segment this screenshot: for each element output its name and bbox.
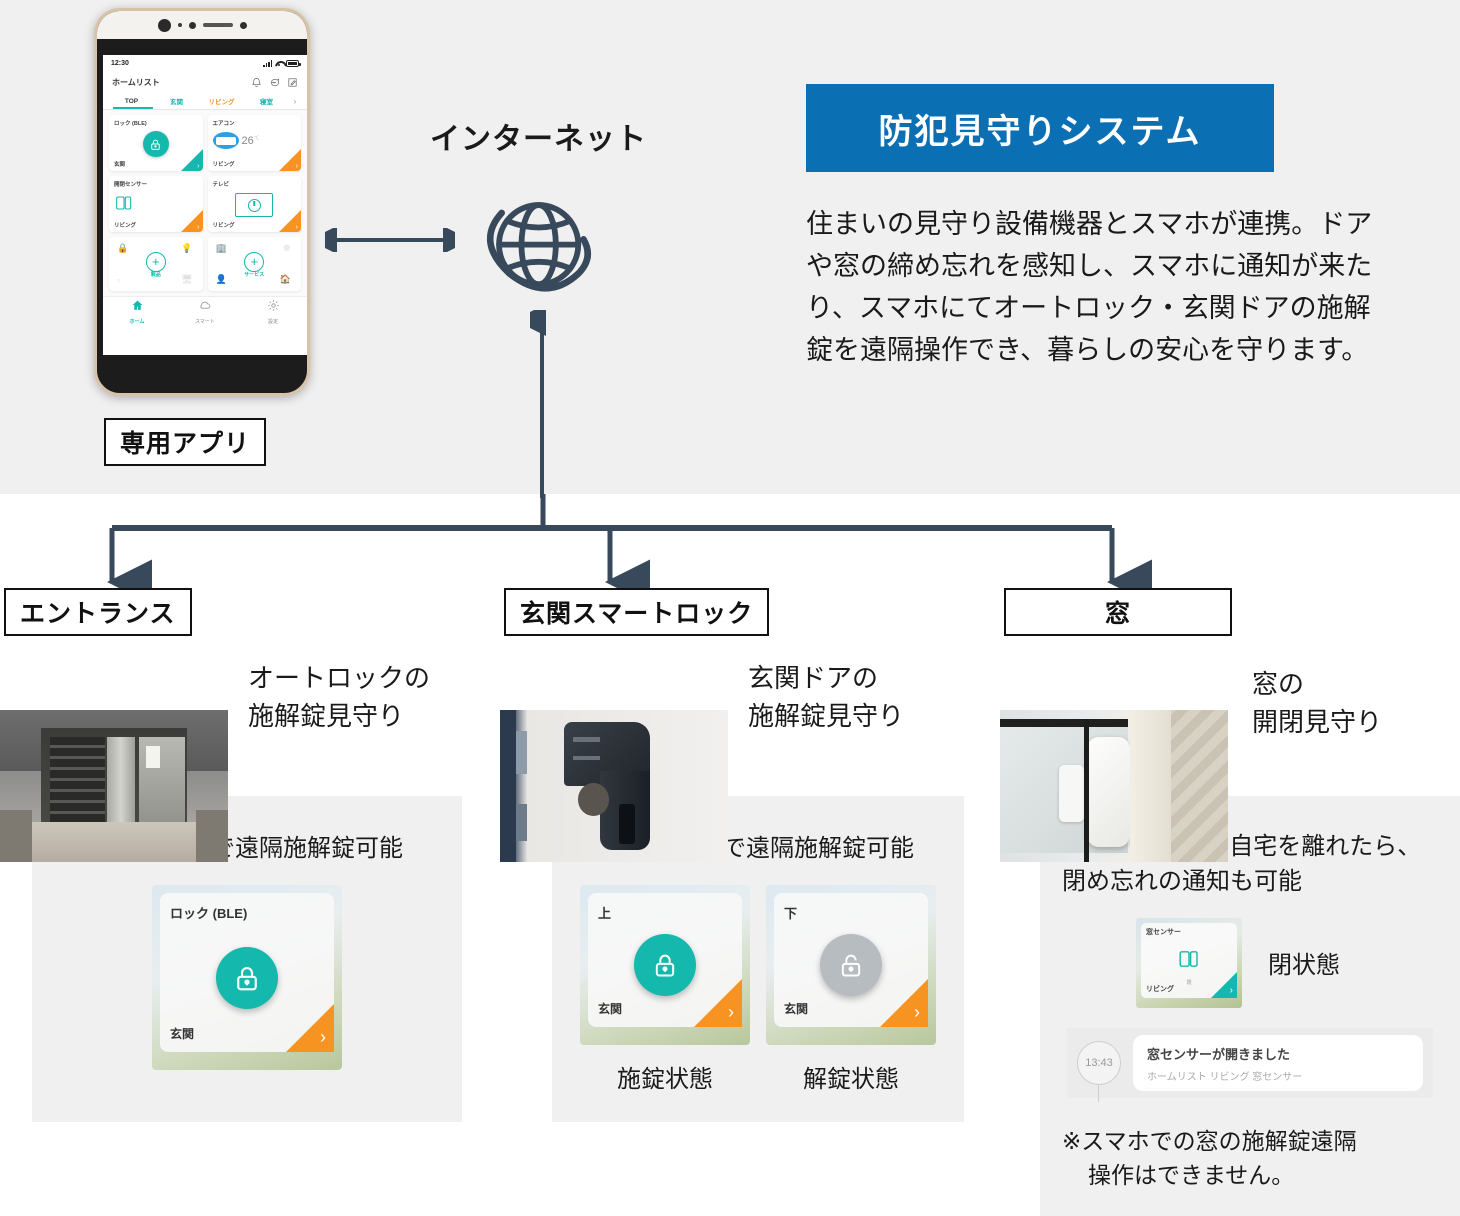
internet-label: インターネット	[430, 114, 647, 158]
signal-icon	[263, 60, 272, 67]
window-panel-title-line2: 閉め忘れの通知も可能	[1062, 865, 1460, 900]
tab-living[interactable]: リビング	[199, 96, 244, 106]
lock-card-locked[interactable]: 上 玄関 ›	[580, 885, 750, 1045]
unlocked-state-caption: 解錠状態	[766, 1059, 936, 1094]
tab-active-underline	[113, 107, 153, 109]
entrance-photo	[0, 710, 228, 862]
sensor-dot-icon	[178, 23, 182, 27]
window-closed-state-label: 閉状態	[1268, 945, 1340, 980]
mock-card-room: 玄関	[784, 1000, 808, 1017]
card-room: リビング	[114, 221, 136, 229]
smart-lock-caption-line1: 玄関ドアの	[748, 660, 904, 698]
entrance-badge: エントランス	[4, 588, 192, 636]
tab-more-chevron-icon[interactable]: ›	[289, 97, 301, 106]
add-service-label: サービス	[244, 271, 264, 278]
nav-home[interactable]: ホーム	[103, 299, 171, 325]
aircon-temp: 26	[242, 135, 254, 147]
window-footnote-line1: ※スマホでの窓の施解錠遠隔	[1062, 1124, 1460, 1159]
front-camera-icon	[158, 19, 171, 32]
mock-corner-badge[interactable]: ›	[286, 1004, 334, 1052]
globe-icon	[470, 176, 602, 308]
device-card-grid: ロック (BLE) 玄関 › エアコン 26℃ リビング	[103, 110, 307, 296]
phone-screen: 12:30 ホームリスト TOP 玄関 リビング 寝室	[103, 55, 307, 355]
locked-state-caption: 施錠状態	[580, 1059, 750, 1094]
chevron-right-icon: ›	[320, 1028, 326, 1046]
notification-subtitle: ホームリスト リビング 窓センサー	[1147, 1068, 1409, 1083]
mock-corner-badge[interactable]: ›	[1211, 972, 1237, 998]
chevron-right-icon: ›	[296, 224, 298, 231]
add-product-tile[interactable]: 🔒 💡 ▫ 🖥 + 製品	[109, 237, 203, 291]
smart-lock-caption: 玄関ドアの 施解錠見守り	[748, 660, 904, 735]
smart-lock-badge: 玄関スマートロック	[504, 588, 769, 636]
chevron-right-icon: ›	[197, 224, 199, 231]
mock-card-room: 玄関	[170, 1025, 194, 1042]
plus-icon[interactable]: +	[146, 252, 166, 272]
mock-card-title: 下	[784, 903, 797, 922]
card-room: 玄関	[114, 160, 125, 168]
add-service-tile[interactable]: 🏢 ☸ 👤 🏠 + サービス	[208, 237, 302, 291]
page-description: 住まいの見守り設備機器とスマホが連携。ドアや窓の締め忘れを感知し、スマホに通知が…	[806, 204, 1396, 371]
chevron-right-icon: ›	[1230, 986, 1233, 996]
app-header: ホームリスト	[103, 71, 307, 93]
card-title: 開閉センサー	[114, 180, 198, 188]
mock-card-title: 上	[598, 903, 611, 922]
mock-card-title: 窓センサー	[1146, 927, 1181, 937]
window-state-glyph: 閉	[1186, 979, 1191, 986]
bottom-navigation[interactable]: ホーム スマート 設定	[103, 296, 307, 326]
notification-icon[interactable]	[251, 77, 262, 88]
page-title-box: 防犯見守りシステム	[806, 84, 1274, 172]
chat-icon[interactable]	[269, 77, 280, 88]
lock-button-unlocked-icon[interactable]	[820, 934, 882, 996]
status-time: 12:30	[111, 60, 129, 67]
chevron-right-icon: ›	[728, 1003, 734, 1021]
nav-home-label: ホーム	[103, 318, 171, 325]
mock-corner-badge[interactable]: ›	[694, 979, 742, 1027]
column-entrance: エントランス オートロックの 施解錠見守り	[0, 588, 470, 802]
lock-button-locked-icon[interactable]	[216, 947, 278, 1009]
lock-card-unlocked[interactable]: 下 玄関 ›	[766, 885, 936, 1045]
window-sensor-icon	[114, 195, 134, 211]
card-corner-badge[interactable]: ›	[279, 149, 301, 171]
notification-body[interactable]: 窓センサーが開きました ホームリスト リビング 窓センサー	[1133, 1035, 1423, 1091]
internet-downlink-arrow	[530, 310, 554, 500]
lock-button-locked-icon[interactable]	[634, 934, 696, 996]
chevron-right-icon: ›	[197, 163, 199, 170]
power-icon	[248, 199, 261, 212]
mock-card-title: ロック (BLE)	[170, 903, 247, 922]
window-sensor-photo	[1000, 710, 1228, 862]
status-bar: 12:30	[103, 55, 307, 71]
lock-toggle-icon[interactable]	[143, 131, 169, 157]
app-label-text: 専用アプリ	[104, 418, 266, 466]
smart-lock-caption-line2: 施解錠見守り	[748, 698, 904, 736]
card-aircon[interactable]: エアコン 26℃ リビング ›	[208, 115, 302, 171]
window-closed-icon	[1177, 949, 1201, 969]
window-caption: 窓の 開閉見守り	[1252, 666, 1382, 741]
tab-top[interactable]: TOP	[109, 98, 154, 105]
card-title: テレビ	[213, 180, 297, 188]
window-caption-line1: 窓の	[1252, 666, 1382, 704]
tab-genkan[interactable]: 玄関	[154, 96, 199, 106]
entrance-caption-line1: オートロックの	[248, 660, 430, 698]
top-overview-panel: 12:30 ホームリスト TOP 玄関 リビング 寝室	[0, 0, 1460, 494]
battery-icon	[286, 60, 299, 67]
smart-lock-header: 玄関スマートロック	[500, 588, 970, 650]
nav-smart-label: スマート	[171, 318, 239, 325]
window-sensor-card-mockup[interactable]: 窓センサー 閉 リビング ›	[1136, 918, 1242, 1008]
cloud-icon	[198, 299, 212, 312]
smartphone-mockup: 12:30 ホームリスト TOP 玄関 リビング 寝室	[94, 8, 310, 396]
app-tab-bar[interactable]: TOP 玄関 リビング 寝室 ›	[103, 93, 307, 110]
entrance-caption-line2: 施解錠見守り	[248, 698, 430, 736]
plus-glyph: +	[250, 255, 258, 268]
nav-settings-label: 設定	[239, 318, 307, 325]
notification-time: 13:43	[1077, 1041, 1121, 1085]
chevron-right-icon: ›	[914, 1003, 920, 1021]
page-title: 防犯見守りシステム	[879, 104, 1202, 153]
aircon-icon	[213, 132, 239, 149]
home-icon	[131, 299, 144, 312]
phone-earpiece-area	[97, 11, 307, 39]
nav-settings[interactable]: 設定	[239, 299, 307, 325]
mock-card-room: リビング	[1146, 984, 1174, 994]
card-corner-badge[interactable]: ›	[181, 149, 203, 171]
add-product-label: 製品	[151, 271, 161, 278]
entrance-header: エントランス	[0, 588, 470, 650]
notification-timeline-tail	[1098, 1084, 1099, 1102]
plus-glyph: +	[152, 255, 160, 268]
light-sensor-icon	[240, 22, 247, 29]
earpiece-speaker	[203, 23, 233, 27]
notification-title: 窓センサーが開きました	[1147, 1044, 1409, 1063]
column-window: 窓 窓の 開閉見守り	[1000, 588, 1460, 802]
column-smart-lock: 玄関スマートロック 玄関ドアの 施解錠見守り	[500, 588, 970, 802]
entrance-caption: オートロックの 施解錠見守り	[248, 660, 430, 735]
window-sensor-state-row: 窓センサー 閉 リビング › 閉状態	[1136, 918, 1460, 1008]
tv-icon	[235, 193, 273, 217]
app-header-title: ホームリスト	[112, 77, 160, 88]
chevron-right-icon: ›	[296, 163, 298, 170]
wifi-icon	[275, 60, 283, 67]
card-title: エアコン	[213, 119, 297, 127]
lock-state-captions: 施錠状態 解錠状態	[552, 1059, 964, 1094]
gear-icon	[267, 299, 280, 312]
card-lock-ble[interactable]: ロック (BLE) 玄関 ›	[109, 115, 203, 171]
card-corner-badge[interactable]: ›	[181, 210, 203, 232]
card-room: リビング	[213, 221, 235, 229]
app-label-badge: 専用アプリ	[104, 418, 266, 466]
window-badge: 窓	[1004, 588, 1232, 636]
notification-item[interactable]: 13:43 窓センサーが開きました ホームリスト リビング 窓センサー	[1067, 1028, 1433, 1098]
window-footnote: ※スマホでの窓の施解錠遠隔 操作はできません。	[1062, 1124, 1460, 1193]
smart-lock-photo	[500, 710, 728, 862]
nav-smart[interactable]: スマート	[171, 299, 239, 325]
card-tv[interactable]: テレビ リビング ›	[208, 176, 302, 232]
edit-icon[interactable]	[287, 77, 298, 88]
window-caption-line2: 開閉見守り	[1252, 704, 1382, 742]
card-title: ロック (BLE)	[114, 119, 198, 127]
lock-state-card-pair: 上 玄関 › 下 玄関 ›	[552, 885, 964, 1045]
card-corner-badge[interactable]: ›	[279, 210, 301, 232]
window-footnote-line2: 操作はできません。	[1062, 1158, 1460, 1193]
phone-internet-arrow	[325, 228, 455, 252]
aircon-unit: ℃	[254, 135, 260, 141]
card-room: リビング	[213, 160, 235, 168]
tab-bedroom[interactable]: 寝室	[244, 96, 289, 106]
plus-icon[interactable]: +	[244, 252, 264, 272]
mock-corner-badge[interactable]: ›	[880, 979, 928, 1027]
proximity-sensor-icon	[189, 22, 196, 29]
card-open-close-sensor[interactable]: 開閉センサー リビング ›	[109, 176, 203, 232]
mock-card-room: 玄関	[598, 1000, 622, 1017]
window-header: 窓	[1000, 588, 1460, 650]
entrance-lock-card-mockup[interactable]: ロック (BLE) 玄関 ›	[152, 885, 342, 1070]
tree-connector-lines	[0, 494, 1460, 599]
